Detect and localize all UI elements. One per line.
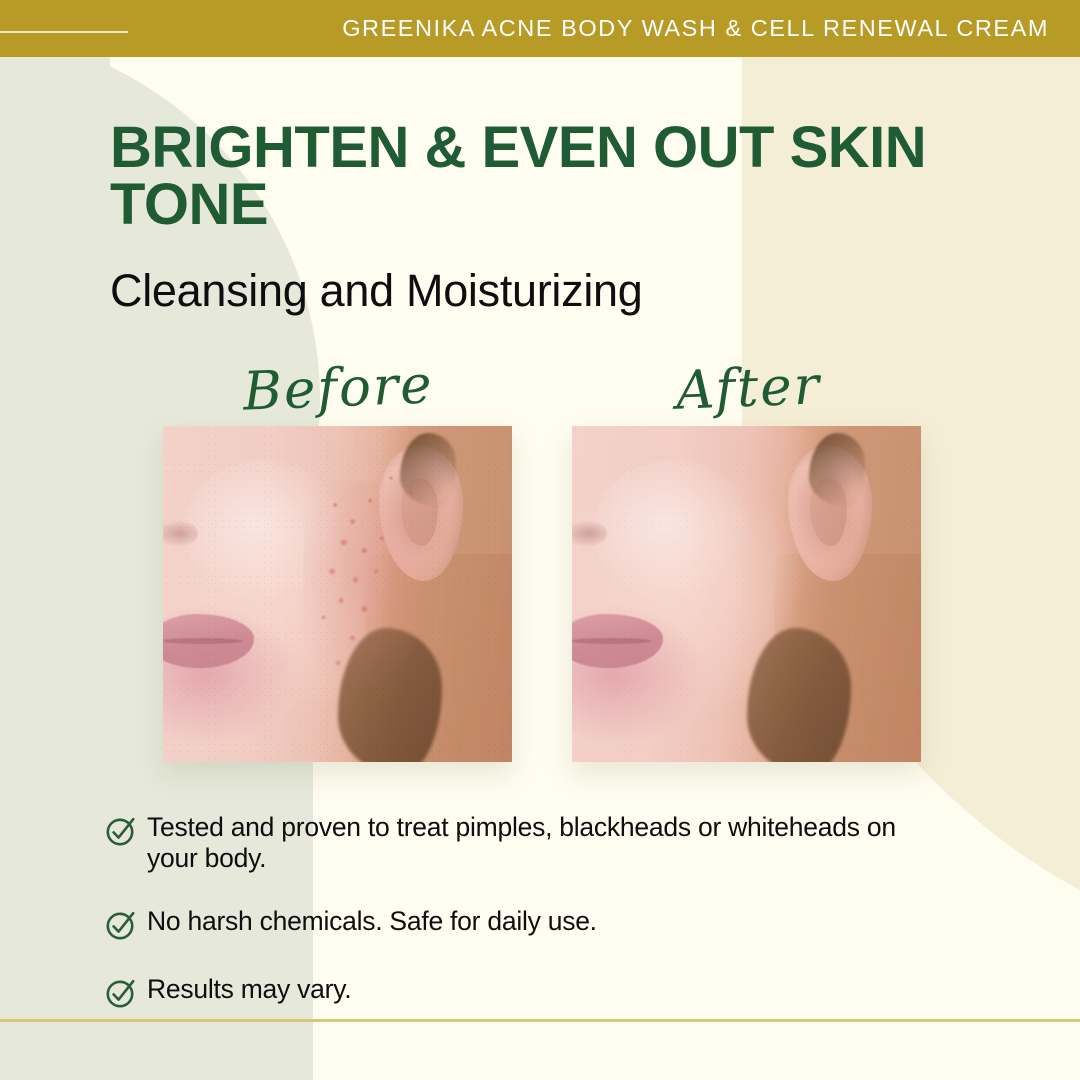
after-photo [572, 426, 921, 762]
list-item: Tested and proven to treat pimples, blac… [104, 812, 944, 874]
list-item-label: No harsh chemicals. Safe for daily use. [147, 906, 597, 937]
skin-texture [572, 426, 921, 762]
list-item: Results may vary. [104, 974, 944, 1010]
check-circle-icon [104, 814, 138, 848]
benefits-list: Tested and proven to treat pimples, blac… [104, 812, 944, 1042]
before-caption: Before [242, 354, 435, 422]
skin-texture [163, 426, 512, 762]
after-caption: After [675, 355, 822, 422]
page-title: BRIGHTEN & EVEN OUT SKIN TONE [110, 119, 990, 233]
brand-title: GREENIKA ACNE BODY WASH & CELL RENEWAL C… [0, 0, 1049, 57]
footer-divider [0, 1019, 1080, 1022]
brand-header-bar: GREENIKA ACNE BODY WASH & CELL RENEWAL C… [0, 0, 1080, 57]
before-photo [163, 426, 512, 762]
list-item-label: Results may vary. [147, 974, 351, 1005]
check-circle-icon [104, 908, 138, 942]
list-item: No harsh chemicals. Safe for daily use. [104, 906, 944, 942]
check-circle-icon [104, 976, 138, 1010]
promo-poster: GREENIKA ACNE BODY WASH & CELL RENEWAL C… [0, 0, 1080, 1080]
list-item-label: Tested and proven to treat pimples, blac… [147, 812, 907, 874]
page-subtitle: Cleansing and Moisturizing [110, 264, 990, 318]
face-skin-after [572, 426, 921, 762]
face-skin-before [163, 426, 512, 762]
